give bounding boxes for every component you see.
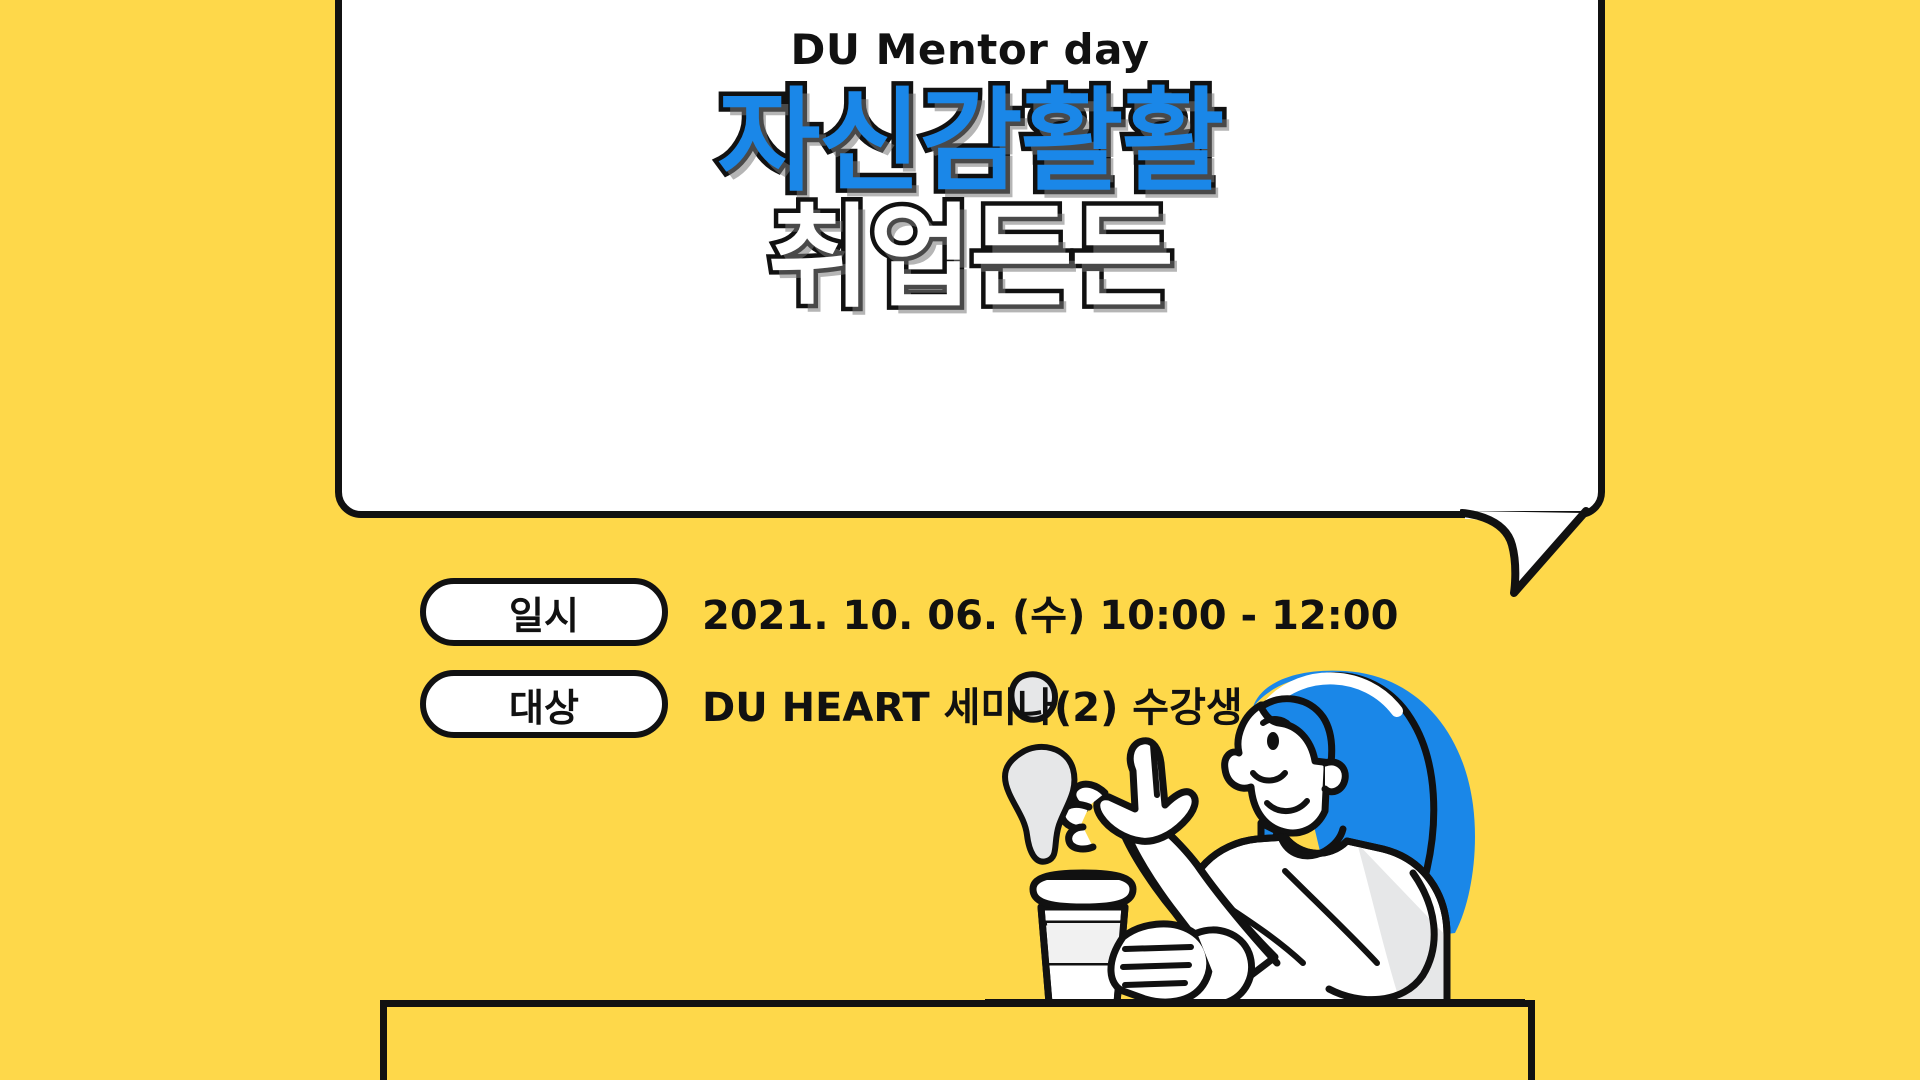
info-label-date: 일시 — [420, 578, 668, 646]
headline-line-1: 자신감활활 — [717, 85, 1222, 199]
info-label-audience: 대상 — [420, 670, 668, 738]
speech-bubble-content: DU Mentor day 자신감활활 취업든든 — [342, 7, 1598, 511]
bottom-content-box — [380, 1000, 1535, 1080]
info-row: 일시 2021. 10. 06. (수) 10:00 - 12:00 — [420, 578, 1398, 646]
poster-canvas: DU Mentor day 자신감활활 취업든든 일시 2021. 10. 06… — [0, 0, 1920, 1080]
steam-wisp-large — [1005, 747, 1074, 862]
kicker-text: DU Mentor day — [790, 29, 1149, 71]
ear-shape — [1325, 762, 1345, 792]
knuckle-3 — [1125, 983, 1185, 985]
speech-bubble-tail-icon — [1460, 505, 1590, 600]
info-row: 대상 DU HEART 세미나(2) 수강생 — [420, 670, 1398, 738]
finger-3 — [1069, 827, 1093, 849]
knuckle-2 — [1123, 965, 1189, 967]
info-value-date: 2021. 10. 06. (수) 10:00 - 12:00 — [702, 583, 1398, 641]
headline: 자신감활활 취업든든 — [717, 85, 1222, 315]
speech-bubble: DU Mentor day 자신감활활 취업든든 — [335, 0, 1605, 518]
knuckle-1 — [1125, 947, 1191, 949]
info-value-audience: DU HEART 세미나(2) 수강생 — [702, 675, 1243, 733]
info-list: 일시 2021. 10. 06. (수) 10:00 - 12:00 대상 DU… — [420, 578, 1398, 762]
headline-line-2: 취업든든 — [717, 201, 1222, 315]
